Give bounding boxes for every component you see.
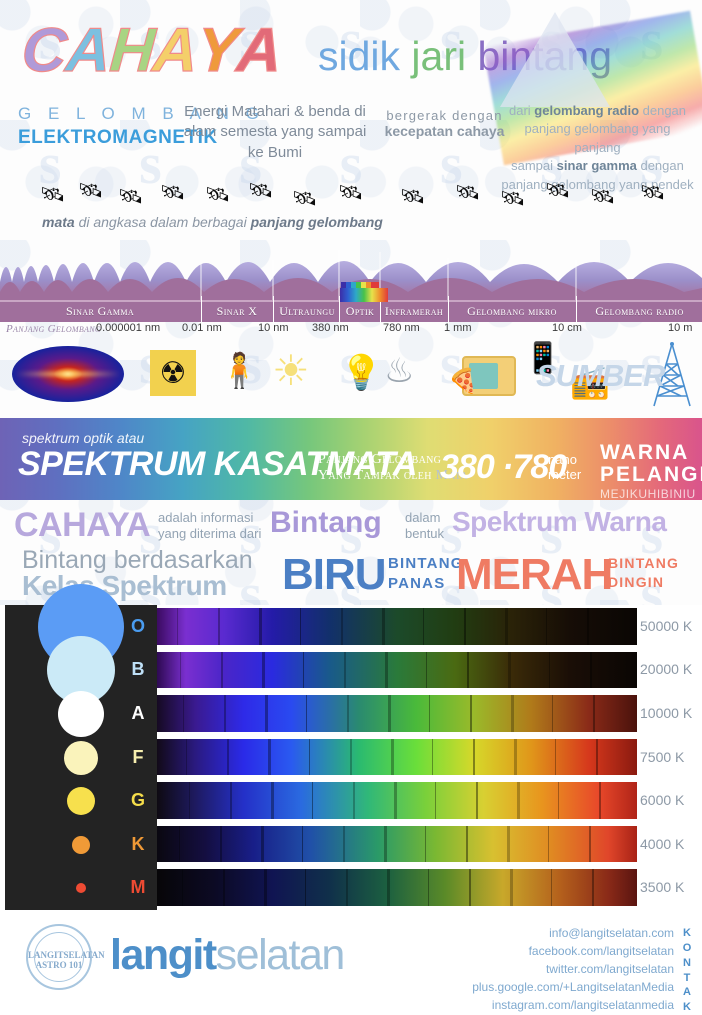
absorption-line bbox=[514, 739, 517, 776]
temperature-label: 3500 K bbox=[640, 879, 702, 895]
kontak-letter: O bbox=[680, 941, 694, 956]
statements-block: CAHAYA adalah informasi yang diterima da… bbox=[0, 500, 702, 605]
energi-matahari-text: Energi Matahari & benda di alam semesta … bbox=[175, 102, 375, 163]
absorption-line bbox=[268, 739, 271, 776]
absorption-line bbox=[423, 608, 424, 645]
absorption-line bbox=[467, 652, 469, 689]
absorption-line bbox=[220, 826, 222, 863]
biru-heading: BIRU bbox=[282, 550, 386, 600]
absorption-line bbox=[549, 652, 550, 689]
intro-text-row: G E L O M B A N G ELEKTROMAGNETIK Energi… bbox=[0, 100, 702, 178]
radio-line3: sampai sinar gamma dengan bbox=[500, 157, 695, 175]
em-band-divider bbox=[273, 296, 274, 324]
sun-uv-woman-icon: ☀ bbox=[272, 350, 310, 392]
title-letter-3: A bbox=[151, 20, 199, 82]
absorption-line bbox=[546, 608, 547, 645]
temperature-label: 4000 K bbox=[640, 836, 702, 852]
poster-footer: LANGITSELATAN ASTRO 101 langitselatan in… bbox=[0, 910, 702, 1002]
absorption-line bbox=[587, 608, 589, 645]
em-band-optik: Optik bbox=[340, 304, 380, 319]
contact-item[interactable]: info@langitselatan.com bbox=[472, 924, 674, 942]
absorption-line bbox=[391, 739, 394, 776]
kontak-letter: K bbox=[680, 1000, 694, 1015]
kontak-letter: A bbox=[680, 985, 694, 1000]
absorption-line bbox=[259, 608, 262, 645]
absorption-line bbox=[183, 695, 184, 732]
spektrum-kasatmata-banner: spektrum optik atau SPEKTRUM KASATMATA P… bbox=[0, 418, 702, 500]
wavelength-value: 0.000001 nm bbox=[96, 322, 160, 334]
absorption-line bbox=[271, 782, 274, 819]
wavelength-value: 1 mm bbox=[444, 322, 472, 334]
langitselatan-seal-icon: LANGITSELATAN ASTRO 101 bbox=[26, 924, 92, 990]
cahaya-heading: CAHAYA bbox=[14, 506, 150, 545]
satellite-icon: 🛰 bbox=[455, 180, 480, 205]
wavelength-value: 780 nm bbox=[383, 322, 420, 334]
satellite-icon: 🛰 bbox=[78, 178, 103, 203]
satellite-icon: 🛰 bbox=[205, 182, 230, 207]
kontak-letter: K bbox=[680, 926, 694, 941]
subtitle-part-0: sidik bbox=[318, 33, 411, 79]
spectrum-strip bbox=[157, 652, 637, 689]
kontak-letter: T bbox=[680, 971, 694, 986]
absorption-line bbox=[464, 608, 466, 645]
absorption-line bbox=[428, 869, 429, 906]
spectrum-strip bbox=[157, 782, 637, 819]
bintang-heading: Bintang bbox=[270, 506, 382, 540]
satellite-icon: 🛰 bbox=[500, 186, 525, 211]
dalam-bentuk-text: dalam bentuk bbox=[405, 510, 444, 543]
subtitle-part-1: jari bbox=[411, 33, 477, 79]
wavelength-value: 0.01 nm bbox=[182, 322, 222, 334]
absorption-line bbox=[551, 869, 552, 906]
absorption-line bbox=[309, 739, 310, 776]
contact-item[interactable]: plus.google.com/+LangitselatanMedia bbox=[472, 978, 674, 996]
title-letter-0: C bbox=[20, 20, 68, 82]
absorption-line bbox=[186, 739, 187, 776]
satellite-icon: 🛰 bbox=[400, 184, 425, 209]
temperature-label: 10000 K bbox=[640, 705, 702, 721]
absorption-line bbox=[425, 826, 426, 863]
em-band-gelombang-mikro: Gelombang mikro bbox=[449, 304, 575, 319]
kontak-vertical-label: KONTAK bbox=[680, 926, 694, 1015]
contact-list: info@langitselatan.comfacebook.com/langi… bbox=[472, 924, 674, 1014]
absorption-line bbox=[473, 739, 475, 776]
absorption-line bbox=[510, 869, 513, 906]
absorption-line bbox=[303, 652, 304, 689]
absorption-line bbox=[218, 608, 220, 645]
absorption-line bbox=[353, 782, 355, 819]
brand-logo: langitselatan bbox=[110, 934, 344, 977]
absorption-line bbox=[552, 695, 553, 732]
absorption-line bbox=[384, 826, 387, 863]
spectral-class-label: G bbox=[126, 790, 150, 811]
light-bulb-icon: 💡 bbox=[340, 356, 382, 390]
satellite-icon: 🛰 bbox=[160, 180, 185, 205]
absorption-line bbox=[343, 826, 345, 863]
absorption-line bbox=[300, 608, 301, 645]
em-spectrum-bar: Sinar GammaSinar XUltraunguOptikInframer… bbox=[0, 300, 702, 322]
prism-icon bbox=[500, 12, 610, 107]
spectrum-strip bbox=[157, 869, 637, 906]
star-size-circle bbox=[67, 787, 95, 815]
merah-heading: MERAH bbox=[456, 550, 612, 600]
satellite-icon: 🛰 bbox=[590, 184, 615, 209]
bintang-dingin-label: BINTANG DINGIN bbox=[608, 554, 679, 592]
absorption-line bbox=[387, 869, 390, 906]
absorption-line bbox=[341, 608, 343, 645]
optik-spectrum-chip bbox=[340, 288, 388, 302]
wavelength-value: 10 cm bbox=[552, 322, 582, 334]
star-size-circle bbox=[72, 836, 90, 854]
absorption-line bbox=[385, 652, 388, 689]
absorption-line bbox=[429, 695, 430, 732]
adalah-informasi-text: adalah informasi yang diterima dari bbox=[158, 510, 261, 543]
absorption-line bbox=[558, 782, 559, 819]
spektrum-warna-heading: Spektrum Warna bbox=[452, 506, 666, 538]
radiation-hazard-icon: ☢ bbox=[150, 350, 196, 396]
panjang-gelombang-caption: Panjang Gelombang bbox=[6, 323, 101, 335]
radiator-heater-icon: ♨ bbox=[384, 354, 414, 388]
wavelength-value: 10 m bbox=[668, 322, 692, 334]
spectral-class-label: B bbox=[126, 659, 150, 680]
absorption-line bbox=[592, 869, 594, 906]
absorption-line bbox=[347, 695, 349, 732]
absorption-line bbox=[182, 869, 183, 906]
absorption-line bbox=[590, 652, 592, 689]
absorption-line bbox=[346, 869, 348, 906]
spectral-class-label: F bbox=[126, 747, 150, 768]
contact-item[interactable]: twitter.com/langitselatan bbox=[472, 960, 674, 978]
absorption-line bbox=[388, 695, 391, 732]
absorption-line bbox=[394, 782, 397, 819]
absorption-line bbox=[466, 826, 468, 863]
absorption-line bbox=[227, 739, 229, 776]
absorption-line bbox=[230, 782, 232, 819]
kecepatan-cahaya-text: bergerak dengan kecepatan cahaya bbox=[382, 108, 507, 139]
absorption-line bbox=[508, 652, 511, 689]
absorption-line bbox=[589, 826, 591, 863]
em-band-divider bbox=[576, 296, 577, 324]
wavelength-value: 380 nm bbox=[312, 322, 349, 334]
spectral-class-chart: O50000 KB20000 KA10000 KF7500 KG6000 KK4… bbox=[0, 605, 702, 910]
spektrum-optik-label: spektrum optik atau bbox=[22, 430, 144, 446]
contact-item[interactable]: instagram.com/langitselatanmedia bbox=[472, 996, 674, 1014]
em-band-gelombang-radio: Gelombang radio bbox=[577, 304, 702, 319]
absorption-line bbox=[599, 782, 601, 819]
absorption-line bbox=[507, 826, 510, 863]
mata-angkasa-caption: mata di angkasa dalam berbagai panjang g… bbox=[42, 214, 383, 230]
radio-line1: dari gelombang radio dengan bbox=[500, 102, 695, 120]
satellite-icon: 🛰 bbox=[118, 184, 143, 209]
em-band-divider bbox=[201, 296, 202, 324]
em-band-sinar-gamma: Sinar Gamma bbox=[0, 304, 200, 319]
temperature-label: 20000 K bbox=[640, 661, 702, 677]
satellite-row: 🛰🛰🛰🛰🛰🛰🛰🛰🛰🛰🛰🛰🛰🛰 mata di angkasa dalam ber… bbox=[0, 178, 702, 238]
em-band-inframerah: Inframerah bbox=[381, 304, 447, 319]
absorption-line bbox=[596, 739, 598, 776]
contact-item[interactable]: facebook.com/langitselatan bbox=[472, 942, 674, 960]
absorption-line bbox=[223, 869, 225, 906]
spectral-class-label: K bbox=[126, 834, 150, 855]
kecepatan-cahaya-label: kecepatan cahaya bbox=[382, 123, 507, 139]
temperature-label: 7500 K bbox=[640, 749, 702, 765]
title-letter-2: H bbox=[107, 20, 155, 82]
absorption-line bbox=[593, 695, 595, 732]
satellite-icon: 🛰 bbox=[545, 178, 570, 203]
pizza-icon: 🍕 bbox=[448, 370, 478, 394]
absorption-line bbox=[555, 739, 556, 776]
absorption-line bbox=[435, 782, 436, 819]
temperature-label: 6000 K bbox=[640, 792, 702, 808]
absorption-line bbox=[476, 782, 478, 819]
absorption-line bbox=[224, 695, 226, 732]
absorption-line bbox=[180, 652, 181, 689]
absorption-line bbox=[470, 695, 472, 732]
warna-pelangi-label: WARNA PELANGI MEJIKUHIBINIU bbox=[600, 442, 688, 501]
spectrum-strip bbox=[157, 608, 637, 645]
satellite-icon: 🛰 bbox=[292, 186, 317, 211]
absorption-line bbox=[350, 739, 352, 776]
absorption-line bbox=[548, 826, 549, 863]
satellite-icon: 🛰 bbox=[40, 182, 65, 207]
bergerak-dengan-label: bergerak dengan bbox=[382, 108, 507, 123]
em-band-divider bbox=[448, 296, 449, 324]
absorption-line bbox=[469, 869, 471, 906]
title-letter-5: A bbox=[235, 20, 283, 82]
spectrum-strip bbox=[157, 695, 637, 732]
page-title: CAHAYA bbox=[22, 20, 281, 82]
absorption-line bbox=[265, 695, 268, 732]
satellite-icon: 🛰 bbox=[338, 180, 363, 205]
gamma-ray-sky-map-icon bbox=[12, 346, 124, 402]
absorption-line bbox=[306, 695, 307, 732]
em-band-sinar-x: Sinar X bbox=[202, 304, 272, 319]
star-size-circle bbox=[58, 691, 104, 737]
source-icon-row: ☢ 🧍 ☀ 💡 ♨ SUMBER 🍕 📱 📻 bbox=[0, 340, 702, 412]
spectral-class-label: M bbox=[126, 877, 150, 898]
em-band-ultraungu: Ultraungu bbox=[274, 304, 340, 319]
absorption-line bbox=[382, 608, 385, 645]
absorption-line bbox=[505, 608, 508, 645]
bintang-panas-label: BINTANG PANAS bbox=[388, 554, 464, 595]
absorption-line bbox=[177, 608, 178, 645]
star-size-circle bbox=[64, 741, 98, 775]
absorption-line bbox=[344, 652, 346, 689]
spectral-class-label: A bbox=[126, 703, 150, 724]
absorption-line bbox=[261, 826, 264, 863]
kontak-letter: N bbox=[680, 956, 694, 971]
absorption-line bbox=[511, 695, 514, 732]
sumber-watermark: SUMBER bbox=[536, 358, 664, 394]
wavelength-scale-row: Panjang Gelombang 0.000001 nm0.01 nm10 n… bbox=[0, 322, 702, 340]
absorption-line bbox=[305, 869, 306, 906]
xray-child-icon: 🧍 bbox=[218, 354, 260, 388]
star-size-circle bbox=[76, 883, 86, 893]
nanometer-unit: nano meter bbox=[548, 452, 581, 482]
spectral-class-label: O bbox=[126, 616, 150, 637]
absorption-line bbox=[312, 782, 313, 819]
absorption-line bbox=[262, 652, 265, 689]
title-letter-4: Y bbox=[195, 20, 240, 82]
absorption-line bbox=[432, 739, 433, 776]
absorption-line bbox=[221, 652, 223, 689]
title-letter-1: A bbox=[64, 20, 112, 82]
absorption-line bbox=[426, 652, 427, 689]
infographic-poster: sssssss sssssss sssssss sssssss sssssss … bbox=[0, 0, 702, 1000]
spectrum-strip bbox=[157, 739, 637, 776]
absorption-line bbox=[189, 782, 190, 819]
spectrum-strip bbox=[157, 826, 637, 863]
poster-header: CAHAYA sidik jari bintang bbox=[0, 0, 702, 100]
wavelength-value: 10 nm bbox=[258, 322, 289, 334]
absorption-line bbox=[302, 826, 303, 863]
satellite-icon: 🛰 bbox=[640, 180, 665, 205]
absorption-line bbox=[179, 826, 180, 863]
radio-line2: panjang gelombang yang panjang bbox=[500, 120, 695, 157]
absorption-line bbox=[517, 782, 520, 819]
temperature-label: 50000 K bbox=[640, 618, 702, 634]
absorption-line bbox=[264, 869, 267, 906]
satellite-icon: 🛰 bbox=[248, 178, 273, 203]
